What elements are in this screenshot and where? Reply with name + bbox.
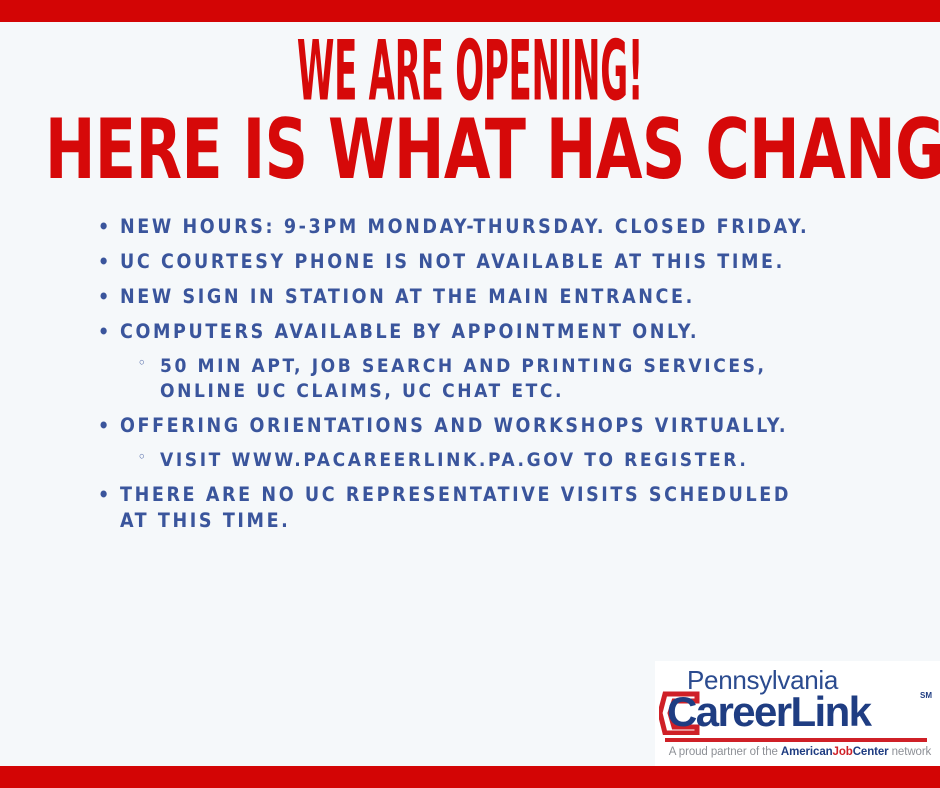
changes-list: •NEW HOURS: 9-3PM MONDAY-THURSDAY. CLOSE…	[92, 214, 892, 543]
bullet-icon: •	[98, 249, 109, 275]
list-item-text: VISIT WWW.PACAREERLINK.PA.GOV TO REGISTE…	[160, 449, 748, 471]
list-item: •UC COURTESY PHONE IS NOT AVAILABLE AT T…	[92, 249, 892, 275]
top-red-bar	[0, 0, 940, 22]
list-item-text: THERE ARE NO UC REPRESENTATIVE VISITS SC…	[120, 483, 791, 506]
list-item: •OFFERING ORIENTATIONS AND WORKSHOPS VIR…	[92, 413, 892, 439]
hollow-bullet-icon: ◦	[138, 449, 145, 466]
list-item: •COMPUTERS AVAILABLE BY APPOINTMENT ONLY…	[92, 319, 892, 345]
bullet-icon: •	[98, 319, 109, 345]
list-item-text: COMPUTERS AVAILABLE BY APPOINTMENT ONLY.	[120, 320, 699, 343]
logo-service-mark: SM	[920, 691, 932, 700]
list-item-text: NEW SIGN IN STATION AT THE MAIN ENTRANCE…	[120, 285, 695, 308]
logo-careerlink-text: CareerLink	[667, 688, 870, 736]
list-item-text: OFFERING ORIENTATIONS AND WORKSHOPS VIRT…	[120, 414, 788, 437]
tagline-job: Job	[833, 746, 853, 758]
list-item: •NEW SIGN IN STATION AT THE MAIN ENTRANC…	[92, 284, 892, 310]
sub-list-item: ◦VISIT WWW.PACAREERLINK.PA.GOV TO REGIST…	[92, 448, 892, 473]
bullet-icon: •	[98, 482, 109, 508]
logo-tagline: A proud partner of the AmericanJobCenter…	[661, 746, 939, 758]
list-item-text: 50 MIN APT, JOB SEARCH AND PRINTING SERV…	[160, 355, 767, 377]
tagline-prefix: A proud partner of the	[669, 746, 781, 758]
list-item: •NEW HOURS: 9-3PM MONDAY-THURSDAY. CLOSE…	[92, 214, 892, 240]
list-item-text: UC COURTESY PHONE IS NOT AVAILABLE AT TH…	[120, 250, 785, 273]
sub-list-item: ◦50 MIN APT, JOB SEARCH AND PRINTING SER…	[92, 354, 892, 405]
headline-line-2: HERE IS WHAT HAS CHANGED...	[45, 103, 895, 191]
list-item-text-continued: AT THIS TIME.	[120, 508, 892, 534]
bottom-red-bar	[0, 766, 940, 788]
tagline-american: American	[781, 746, 833, 758]
list-item-text: NEW HOURS: 9-3PM MONDAY-THURSDAY. CLOSED…	[120, 215, 809, 238]
headline-line-1: WE ARE OPENING!	[230, 22, 710, 112]
list-item: •THERE ARE NO UC REPRESENTATIVE VISITS S…	[92, 482, 892, 534]
bullet-icon: •	[98, 413, 109, 439]
poster: WE ARE OPENING! HERE IS WHAT HAS CHANGED…	[0, 0, 940, 788]
tagline-network: network	[889, 746, 932, 758]
logo-red-rule	[665, 738, 927, 742]
hollow-bullet-icon: ◦	[138, 355, 145, 372]
pa-careerlink-logo: Pennsylvania CareerLink SM A proud partn…	[655, 661, 940, 766]
tagline-center: Center	[853, 746, 889, 758]
list-item-text-continued: ONLINE UC CLAIMS, UC CHAT ETC.	[160, 379, 892, 404]
bullet-icon: •	[98, 284, 109, 310]
page-title: WE ARE OPENING! HERE IS WHAT HAS CHANGED…	[0, 22, 940, 181]
bullet-icon: •	[98, 214, 109, 240]
